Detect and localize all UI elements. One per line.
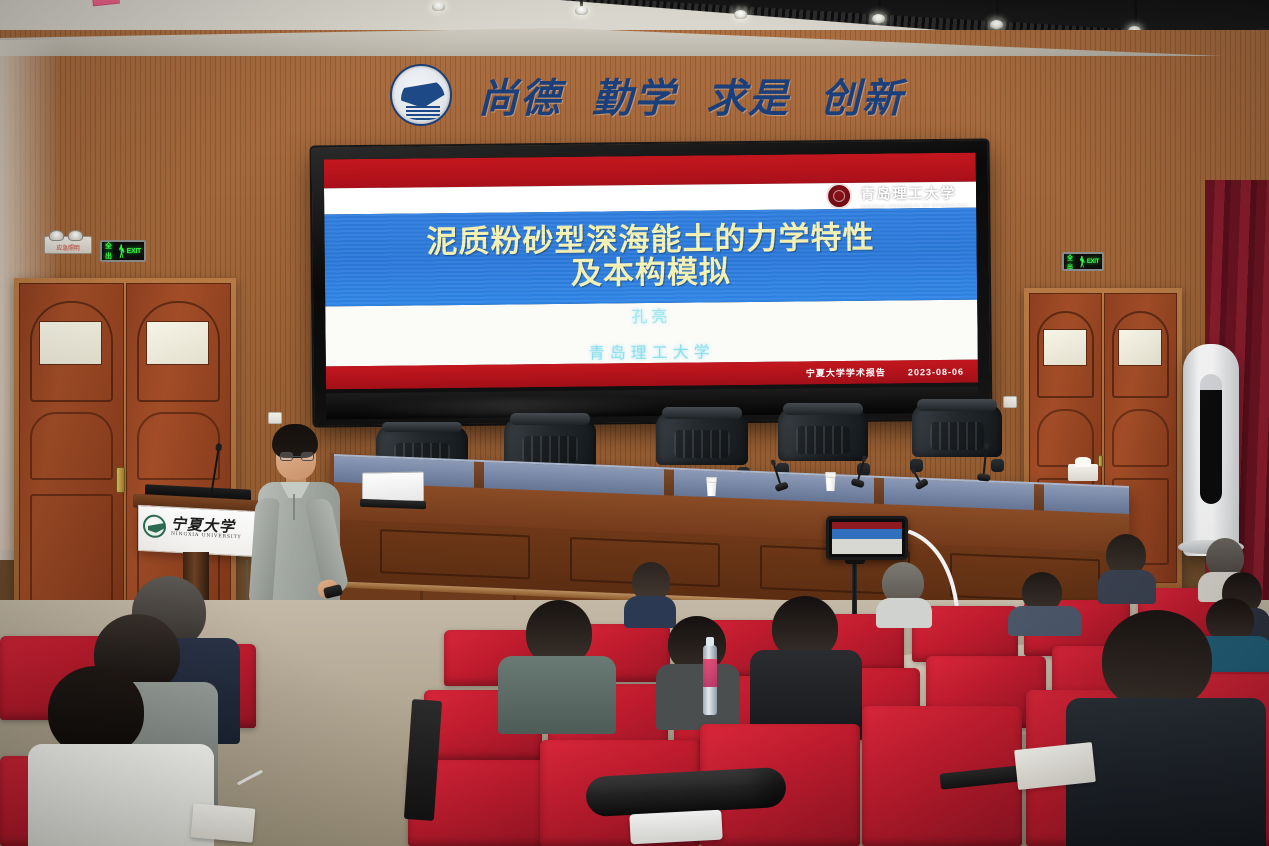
chair-armrest bbox=[991, 459, 1004, 472]
chair-ribbing bbox=[796, 426, 850, 454]
door-panel bbox=[30, 494, 112, 602]
audience-head bbox=[1102, 610, 1212, 710]
exit-sign-cn-label: 安全出口 bbox=[1067, 252, 1078, 271]
motto-char-4: 创新 bbox=[820, 66, 904, 124]
chair-ribbing bbox=[674, 430, 729, 458]
door-leaf-right[interactable] bbox=[126, 283, 231, 623]
chair-headrest bbox=[917, 399, 996, 411]
notebook bbox=[191, 803, 256, 842]
door-leaf-left[interactable] bbox=[19, 283, 124, 623]
running-man-icon bbox=[1080, 256, 1085, 268]
chair-ribbing bbox=[930, 422, 984, 450]
wall-switch-right[interactable] bbox=[1003, 396, 1017, 408]
chair-ribbing bbox=[522, 436, 577, 463]
audience-torso bbox=[498, 656, 616, 734]
slide-affiliation: 青岛理工大学 bbox=[589, 339, 715, 364]
ningxia-university-emblem-icon bbox=[143, 514, 166, 538]
bottle-label bbox=[703, 659, 717, 687]
presentation-screen[interactable]: 青岛理工大学 QINGDAO UNIVERSITY OF TECHNOLOGY … bbox=[312, 140, 991, 425]
ceiling-spotlight bbox=[990, 20, 1003, 29]
podium-university-logo: 宁夏大学 NINGXIA UNIVERSITY bbox=[143, 514, 241, 542]
slide-title-line-2: 及本构模拟 bbox=[571, 257, 731, 292]
door-handle[interactable] bbox=[1098, 455, 1103, 467]
emergency-light: 应急照明 bbox=[44, 236, 92, 254]
ceiling-spotlight bbox=[872, 14, 885, 23]
door-window-pane bbox=[146, 321, 210, 365]
audience-member bbox=[1098, 534, 1156, 600]
power-bank[interactable] bbox=[629, 810, 722, 845]
podium-university-name-en: NINGXIA UNIVERSITY bbox=[171, 533, 241, 541]
wall-switch-left[interactable] bbox=[268, 412, 282, 424]
qingdao-university-logo: 青岛理工大学 QINGDAO UNIVERSITY OF TECHNOLOGY bbox=[826, 182, 968, 209]
running-man-icon bbox=[119, 244, 124, 258]
audience-member bbox=[876, 562, 932, 624]
podium[interactable]: 宁夏大学 NINGXIA UNIVERSITY bbox=[138, 505, 256, 557]
audience-head bbox=[48, 666, 144, 756]
door-window-pane bbox=[1118, 329, 1162, 366]
audience-torso bbox=[1066, 698, 1266, 846]
podium-university-name: 宁夏大学 NINGXIA UNIVERSITY bbox=[171, 517, 241, 541]
eyeglasses-icon bbox=[280, 452, 314, 461]
presenter-placket bbox=[293, 494, 295, 520]
chair-headrest bbox=[510, 413, 591, 424]
chair-backrest bbox=[656, 412, 748, 465]
wall-motto: 尚德 勤学 求是 创新 bbox=[390, 52, 930, 138]
audience-torso bbox=[28, 744, 214, 846]
chair-headrest bbox=[382, 422, 463, 433]
audience-member bbox=[750, 596, 862, 736]
chair-backrest bbox=[912, 404, 1002, 457]
door-handle[interactable] bbox=[116, 467, 125, 493]
door-panel bbox=[1112, 409, 1169, 467]
ceiling-spotlight bbox=[734, 10, 747, 19]
smartphone-screen bbox=[832, 522, 902, 554]
motto-char-2: 勤学 bbox=[592, 66, 676, 124]
air-conditioner-vent bbox=[1200, 374, 1222, 504]
slide-logo-name: 青岛理工大学 QINGDAO UNIVERSITY OF TECHNOLOGY bbox=[860, 182, 968, 208]
motto-characters: 尚德 勤学 求是 创新 bbox=[478, 66, 904, 124]
university-seal-icon bbox=[826, 183, 852, 209]
laptop-screen[interactable] bbox=[362, 471, 424, 502]
phone-preview-blue-band bbox=[832, 529, 902, 539]
chair-headrest bbox=[662, 407, 743, 419]
audience-member bbox=[28, 666, 214, 846]
lecture-hall-photo: 尚德 勤学 求是 创新 应急照明 安全出口 EXIT 安全出口 EXIT bbox=[0, 0, 1269, 846]
exit-sign-left: 安全出口 EXIT bbox=[100, 240, 146, 262]
slide-title-band: 泥质粉砂型深海能土的力学特性 及本构模拟 bbox=[324, 208, 977, 307]
audience-member bbox=[498, 600, 616, 730]
executive-chair[interactable] bbox=[912, 404, 1002, 476]
tissue-box bbox=[1068, 464, 1098, 481]
executive-chair[interactable] bbox=[778, 408, 868, 480]
spotlight-stem bbox=[1134, 0, 1137, 28]
screen-display-area: 青岛理工大学 QINGDAO UNIVERSITY OF TECHNOLOGY … bbox=[324, 153, 978, 390]
audience-member bbox=[656, 616, 740, 726]
table-panel bbox=[380, 529, 530, 579]
exit-sign-right: 安全出口 EXIT bbox=[1062, 252, 1104, 271]
motto-char-3: 求是 bbox=[706, 66, 790, 124]
audience-torso bbox=[876, 598, 932, 628]
door-panel bbox=[137, 412, 219, 480]
phone-preview-white-band bbox=[832, 539, 902, 554]
chair-headrest bbox=[783, 403, 862, 415]
audience-torso bbox=[1098, 570, 1156, 604]
water-bottle bbox=[703, 645, 717, 715]
exit-sign-en-label: EXIT bbox=[1087, 259, 1099, 265]
ningxia-university-emblem-icon bbox=[390, 64, 452, 126]
motto-char-1: 尚德 bbox=[478, 66, 562, 124]
notebook bbox=[1014, 742, 1096, 790]
ceiling-spotlight bbox=[432, 2, 445, 11]
phone-preview-red-band bbox=[832, 522, 902, 529]
audience-member bbox=[624, 562, 676, 624]
slide-author: 孔亮 bbox=[631, 303, 671, 327]
chair-backrest bbox=[778, 408, 868, 461]
ceiling-spotlight bbox=[575, 6, 588, 15]
slide-footer-event: 宁夏大学学术报告 bbox=[806, 366, 886, 380]
door-window-pane bbox=[1043, 329, 1087, 366]
slide-title-line-1: 泥质粉砂型深海能土的力学特性 bbox=[426, 222, 874, 260]
door-window-pane bbox=[39, 321, 103, 365]
spotlight-stem bbox=[996, 0, 999, 22]
audience-member bbox=[1066, 610, 1266, 846]
emergency-light-label: 应急照明 bbox=[45, 243, 91, 252]
recording-smartphone[interactable] bbox=[826, 516, 908, 560]
floor-air-conditioner[interactable] bbox=[1183, 344, 1239, 556]
door-panel bbox=[30, 412, 112, 480]
slide-content: 青岛理工大学 QINGDAO UNIVERSITY OF TECHNOLOGY … bbox=[324, 153, 978, 390]
exit-sign-cn-label: 安全出口 bbox=[105, 240, 117, 262]
audience-torso bbox=[656, 664, 740, 730]
slide-author-band: 孔亮 青岛理工大学 bbox=[325, 300, 978, 367]
slide-footer-date: 2023-08-06 bbox=[908, 366, 964, 377]
exit-sign-en-label: EXIT bbox=[127, 248, 141, 255]
